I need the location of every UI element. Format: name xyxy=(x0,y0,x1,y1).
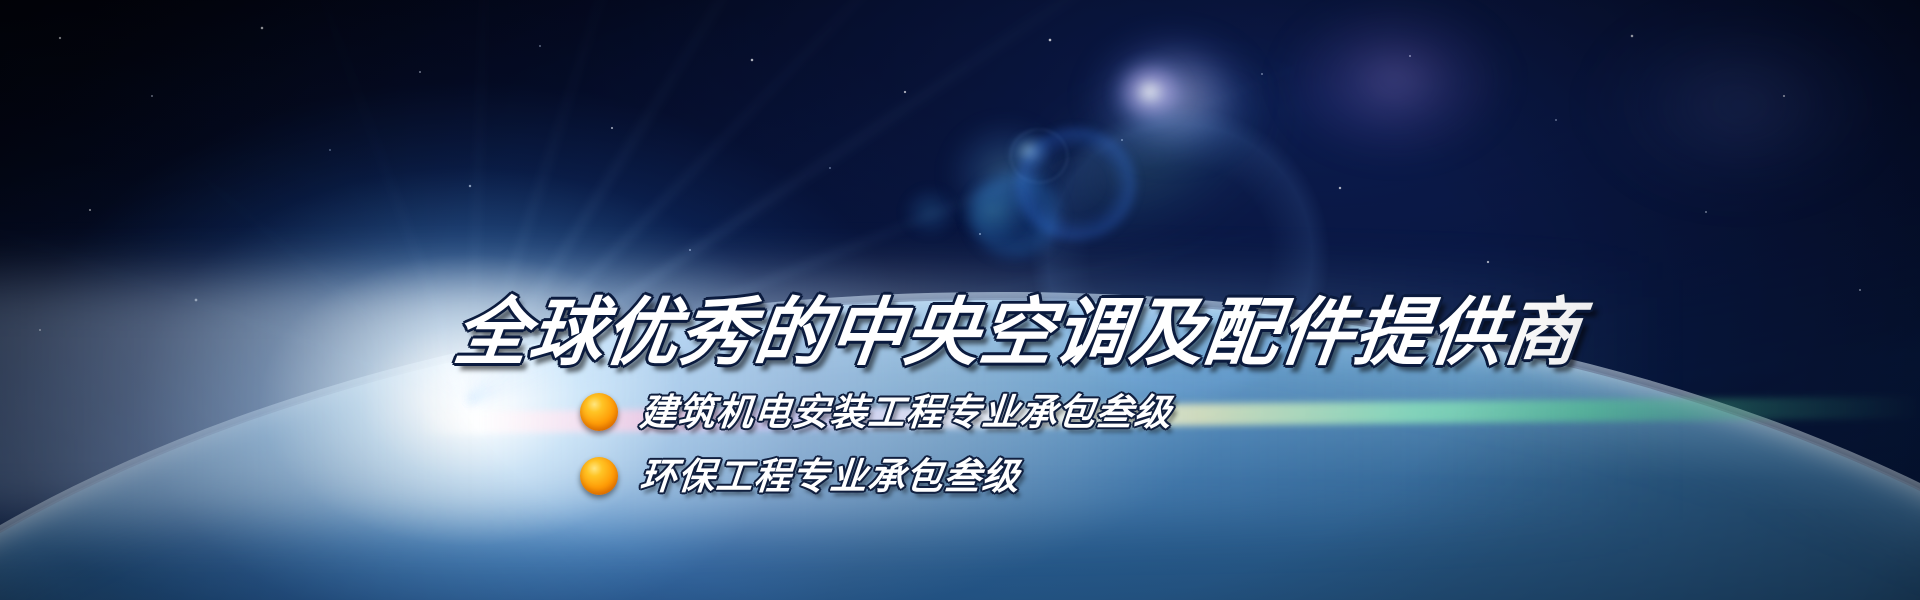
orange-dot-icon xyxy=(580,457,618,495)
orange-dot-icon xyxy=(580,393,618,431)
list-item: 环保工程专业承包叁级 xyxy=(580,444,1172,508)
qualification-list: 建筑机电安装工程专业承包叁级 环保工程专业承包叁级 xyxy=(580,380,1172,508)
page-title: 全球优秀的中央空调及配件提供商 xyxy=(450,296,1584,370)
banner-content: 全球优秀的中央空调及配件提供商 建筑机电安装工程专业承包叁级 环保工程专业承包叁… xyxy=(0,0,1920,600)
list-item: 建筑机电安装工程专业承包叁级 xyxy=(580,380,1172,444)
list-item-label: 环保工程专业承包叁级 xyxy=(638,458,1021,495)
hero-banner: 全球优秀的中央空调及配件提供商 建筑机电安装工程专业承包叁级 环保工程专业承包叁… xyxy=(0,0,1920,600)
list-item-label: 建筑机电安装工程专业承包叁级 xyxy=(638,394,1173,431)
